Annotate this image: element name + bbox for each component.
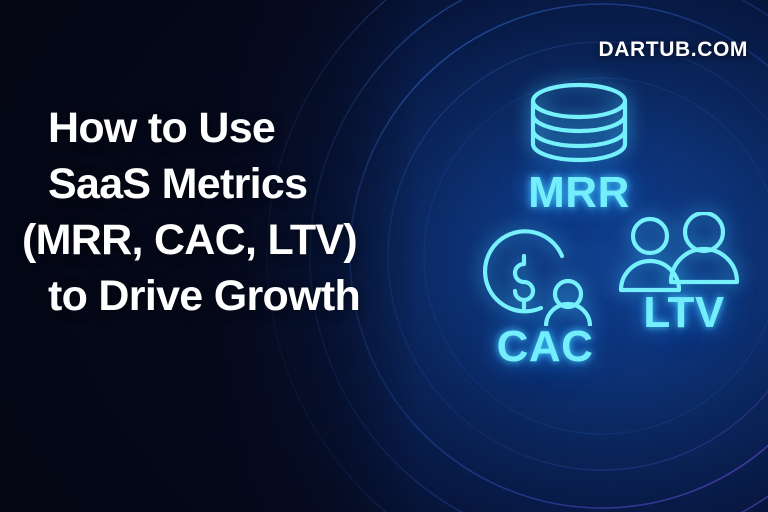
metric-ltv: LTV — [614, 212, 754, 336]
title-line-4: to Drive Growth — [22, 268, 422, 324]
page-title: How to Use SaaS Metrics (MRR, CAC, LTV) … — [22, 100, 422, 324]
title-line-3: (MRR, CAC, LTV) — [22, 212, 422, 268]
thumbnail-canvas: DARTUB.COM How to Use SaaS Metrics (MRR,… — [0, 0, 768, 512]
metric-ltv-label: LTV — [614, 290, 754, 336]
metric-mrr-label: MRR — [494, 170, 664, 216]
title-line-2: SaaS Metrics — [22, 156, 422, 212]
metric-cac: CAC — [466, 228, 624, 370]
two-people-icon — [614, 212, 754, 294]
dollar-circle-person-icon — [466, 228, 624, 326]
title-line-1: How to Use — [22, 100, 422, 156]
brand-watermark: DARTUB.COM — [599, 38, 748, 62]
database-cylinder-icon — [494, 82, 664, 168]
metric-cac-label: CAC — [466, 324, 624, 370]
metric-mrr: MRR — [494, 82, 664, 216]
